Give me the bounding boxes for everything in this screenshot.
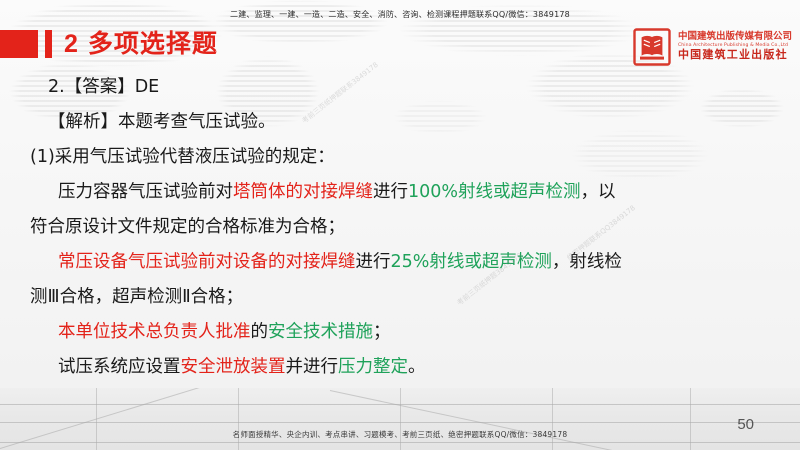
p4-segment-e: 。: [408, 357, 426, 377]
para-1-line-2: 符合原设计文件规定的合格标准为合格；: [0, 210, 800, 245]
p2-segment-c-green: 25%射线或超声检测: [391, 252, 552, 272]
floor-grid: [0, 388, 800, 450]
answer-line: 2.【答案】DE: [0, 70, 800, 105]
p3-segment-c-green: 安全技术措施: [268, 322, 373, 342]
para-2-line-1: 常压设备气压试验前对设备的对接焊缝进行25%射线或超声检测，射线检: [0, 245, 800, 280]
p4-segment-c: 并进行: [286, 357, 339, 377]
publisher-press-cn: 中国建筑工业出版社: [678, 49, 792, 61]
publisher-company-cn: 中国建筑出版传媒有限公司: [678, 32, 792, 43]
para-3-line: 本单位技术总负责人批准的安全技术措施；: [0, 315, 800, 350]
p3-segment-d: ；: [373, 322, 391, 342]
para-2-line-2: 测Ⅲ合格，超声检测Ⅱ合格；: [0, 280, 800, 315]
slide-canvas: 二建、监理、一建、一造、二造、安全、消防、咨询、检测课程押题联系QQ/微信：38…: [0, 0, 800, 450]
p4-segment-a: 试压系统应设置: [58, 357, 181, 377]
p1-line2-text: 符合原设计文件规定的合格标准为合格；: [30, 217, 345, 237]
slide-body: 2.【答案】DE 【解析】本题考查气压试验。 (1)采用气压试验代替液压试验的规…: [0, 70, 800, 385]
title-number: 2: [64, 30, 78, 58]
analysis-text: 【解析】本题考查气压试验。: [48, 112, 276, 132]
p3-segment-b: 的: [251, 322, 269, 342]
p2-line2-text: 测Ⅲ合格，超声检测Ⅱ合格；: [30, 287, 243, 307]
p1-segment-c: 进行: [373, 182, 408, 202]
title-red-block: [0, 30, 38, 58]
p3-segment-a-red: 本单位技术总负责人批准: [58, 322, 251, 342]
title-red-bar: [45, 30, 52, 58]
p1-segment-d-green: 100%射线或超声检测: [408, 182, 581, 202]
publisher-logo-text: 中国建筑出版传媒有限公司 China Architecture Publishi…: [678, 32, 792, 61]
p4-segment-d-green: 压力整定: [338, 357, 408, 377]
analysis-line: 【解析】本题考查气压试验。: [0, 105, 800, 140]
publisher-logo-icon: [633, 28, 671, 66]
p2-segment-b: 进行: [356, 252, 391, 272]
p1-segment-e: ，以: [581, 182, 616, 202]
page-number: 50: [737, 416, 754, 433]
p2-segment-a-red: 常压设备气压试验前对设备的对接焊缝: [58, 252, 356, 272]
page-title: 多项选择题: [88, 30, 218, 58]
p4-segment-b-red: 安全泄放装置: [181, 357, 286, 377]
p1-segment-b-red: 塔筒体的对接焊缝: [233, 182, 373, 202]
p1-segment-a: 压力容器气压试验前对: [58, 182, 233, 202]
p2-segment-d: ，射线检: [552, 252, 622, 272]
header-contact-line: 二建、监理、一建、一造、二造、安全、消防、咨询、检测课程押题联系QQ/微信：38…: [0, 9, 800, 20]
rule-heading-text: (1)采用气压试验代替液压试验的规定：: [30, 147, 335, 167]
para-1-line-1: 压力容器气压试验前对塔筒体的对接焊缝进行100%射线或超声检测，以: [0, 175, 800, 210]
section-title: 2 多项选择题: [0, 28, 218, 60]
rule-heading-line: (1)采用气压试验代替液压试验的规定：: [0, 140, 800, 175]
para-4-line: 试压系统应设置安全泄放装置并进行压力整定。: [0, 350, 800, 385]
publisher-logo: 中国建筑出版传媒有限公司 China Architecture Publishi…: [633, 28, 792, 66]
footer-contact-line: 名师面授精华、央企内训、考点串讲、习题模考、考前三页纸、绝密押题联系QQ/微信：…: [0, 429, 800, 440]
answer-text: 2.【答案】DE: [48, 77, 159, 97]
